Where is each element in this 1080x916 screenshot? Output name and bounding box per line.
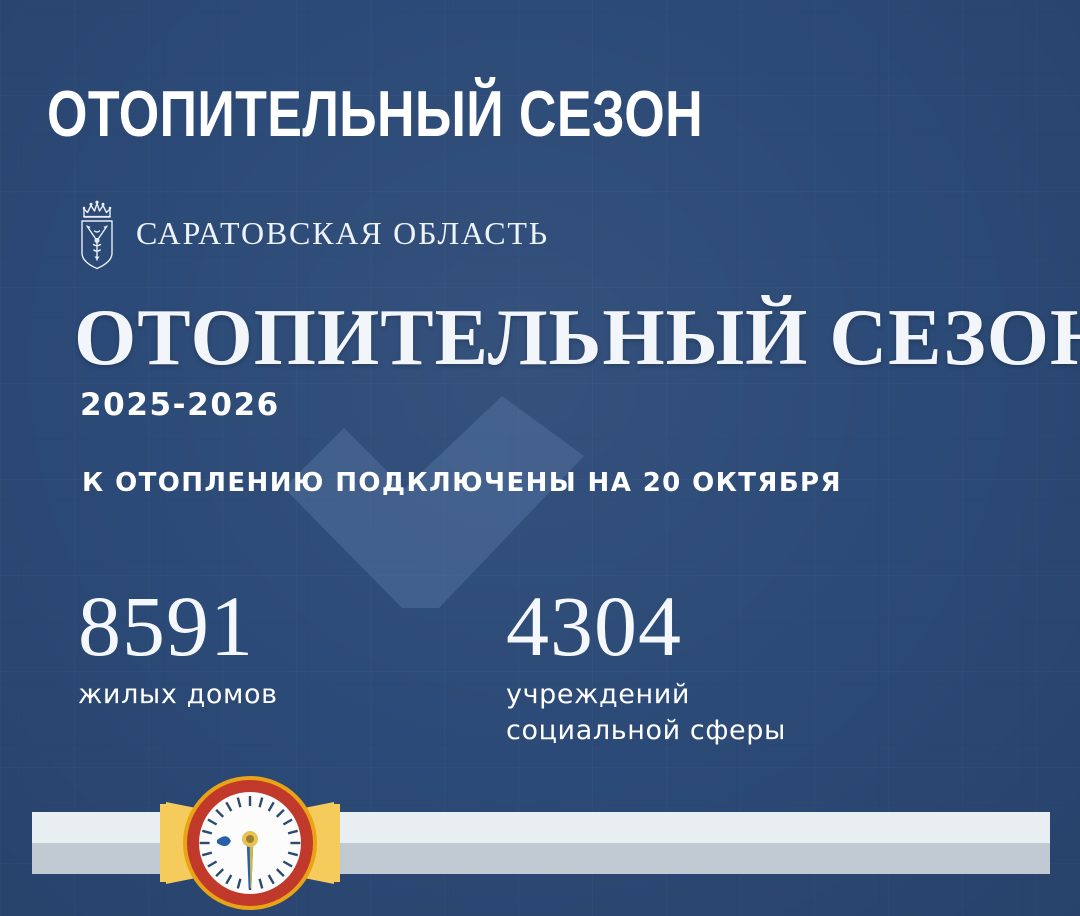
stat-block-social: 4304 учреждений социальной сферы [506, 583, 786, 749]
stat-value-homes: 8591 [78, 583, 278, 669]
stat-label-homes: жилых домов [78, 677, 278, 713]
page-headline: ОТОПИТЕЛЬНЫЙ СЕЗОН [74, 295, 1080, 381]
checkmark-watermark-icon [284, 396, 584, 608]
stat-value-social: 4304 [506, 583, 786, 669]
infographic-canvas: ОТОПИТЕЛЬНЫЙ СЕЗОН [0, 0, 1080, 916]
stat-label-social: учреждений социальной сферы [506, 677, 786, 749]
season-years: 2025-2026 [80, 387, 280, 423]
stat-block-homes: 8591 жилых домов [78, 583, 278, 713]
pipe-flange-right [298, 802, 340, 884]
banner-title: ОТОПИТЕЛЬНЫЙ СЕЗОН [47, 79, 703, 149]
region-name: САРАТОВСКАЯ ОБЛАСТЬ [136, 215, 549, 252]
region-logo: САРАТОВСКАЯ ОБЛАСТЬ [76, 196, 549, 270]
pipe-left [32, 812, 178, 874]
subtitle-connected-date: К ОТОПЛЕНИЮ ПОДКЛЮЧЕНЫ НА 20 ОКТЯБРЯ [82, 468, 842, 498]
pressure-gauge-icon [183, 776, 317, 910]
pipe-with-gauge-illustration [0, 770, 1080, 916]
pipe-flange-left [160, 802, 202, 884]
pipe-right [322, 812, 1050, 874]
saratov-coat-of-arms-icon [76, 196, 118, 270]
